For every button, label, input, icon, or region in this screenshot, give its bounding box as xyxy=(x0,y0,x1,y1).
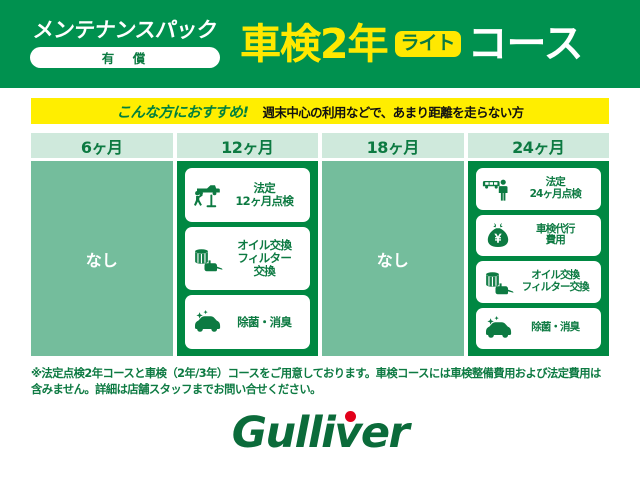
logo-red-dot-icon xyxy=(345,411,356,422)
service-card: 車検代行 費用 xyxy=(476,215,602,257)
service-card: 除菌・消臭 xyxy=(476,308,602,350)
service-card: 除菌・消臭 xyxy=(185,295,311,349)
light-course-badge: ライト xyxy=(395,31,461,57)
car-sparkle-icon xyxy=(190,307,224,337)
column-header-12months: 12ヶ月 xyxy=(177,133,319,158)
car-sparkle-icon xyxy=(481,313,515,343)
column-18months: 18ヶ月 なし xyxy=(322,133,464,356)
recommendation-bar: こんな方におすすめ! 週末中心の利用などで、あまり距離を走らない方 xyxy=(31,98,609,124)
none-label-6months: なし xyxy=(86,247,118,271)
column-body-6months: なし xyxy=(31,161,173,356)
column-6months: 6ヶ月 なし xyxy=(31,133,173,356)
shaken-2year-title: 車検2年 xyxy=(240,24,388,65)
header-banner: メンテナンスパック 有 償 車検2年 ライト コース xyxy=(0,0,640,88)
service-card-label: 車検代行 費用 xyxy=(515,224,597,248)
maintenance-pack-title: メンテナンスパック xyxy=(32,20,219,41)
service-card-label: 除菌・消臭 xyxy=(224,316,306,329)
column-12months: 12ヶ月 xyxy=(177,133,319,356)
oil-filter-change-icon xyxy=(481,267,515,297)
service-card: オイル交換 フィルター 交換 xyxy=(185,227,311,290)
service-card-label: オイル交換 フィルター交換 xyxy=(515,270,597,294)
car-person-inspection-icon xyxy=(481,174,515,204)
brand-logo: Gulliver xyxy=(0,412,640,455)
recommendation-body: 週末中心の利用などで、あまり距離を走らない方 xyxy=(263,102,524,121)
service-card: 法定 24ヶ月点検 xyxy=(476,168,602,210)
header-left-group: メンテナンスパック 有 償 xyxy=(18,20,232,68)
car-lift-inspection-icon xyxy=(190,180,224,210)
service-schedule-table: 6ヶ月 なし 12ヶ月 xyxy=(31,133,609,356)
column-body-24months: 法定 24ヶ月点検 車検代行 費用 xyxy=(468,161,610,356)
column-header-24months: 24ヶ月 xyxy=(468,133,610,158)
oil-filter-change-icon xyxy=(190,244,224,274)
column-body-18months: なし xyxy=(322,161,464,356)
service-card-label: 法定 24ヶ月点検 xyxy=(515,177,597,201)
column-24months: 24ヶ月 xyxy=(468,133,610,356)
column-header-6months: 6ヶ月 xyxy=(31,133,173,158)
recommendation-lead: こんな方におすすめ! xyxy=(116,101,248,122)
service-card-label: オイル交換 フィルター 交換 xyxy=(224,239,306,278)
column-body-12months: 法定 12ヶ月点検 xyxy=(177,161,319,356)
paid-badge: 有 償 xyxy=(30,47,220,68)
service-card-label: 法定 12ヶ月点検 xyxy=(224,182,306,208)
gulliver-wordmark: Gulliver xyxy=(232,408,409,458)
none-label-18months: なし xyxy=(377,247,409,271)
gulliver-logo-text: Gulliver xyxy=(232,412,409,455)
footnote-text: ※法定点検2年コースと車検（2年/3年）コースをご用意しております。車検コースに… xyxy=(31,366,611,399)
course-label: コース xyxy=(468,24,583,64)
service-card-label: 除菌・消臭 xyxy=(515,322,597,334)
column-header-18months: 18ヶ月 xyxy=(322,133,464,158)
service-card: 法定 12ヶ月点検 xyxy=(185,168,311,222)
money-bag-yen-icon xyxy=(481,220,515,250)
service-card: オイル交換 フィルター交換 xyxy=(476,261,602,303)
maintenance-pack-infographic: メンテナンスパック 有 償 車検2年 ライト コース こんな方におすすめ! 週末… xyxy=(0,0,640,480)
header-right-group: 車検2年 ライト コース xyxy=(240,24,583,65)
